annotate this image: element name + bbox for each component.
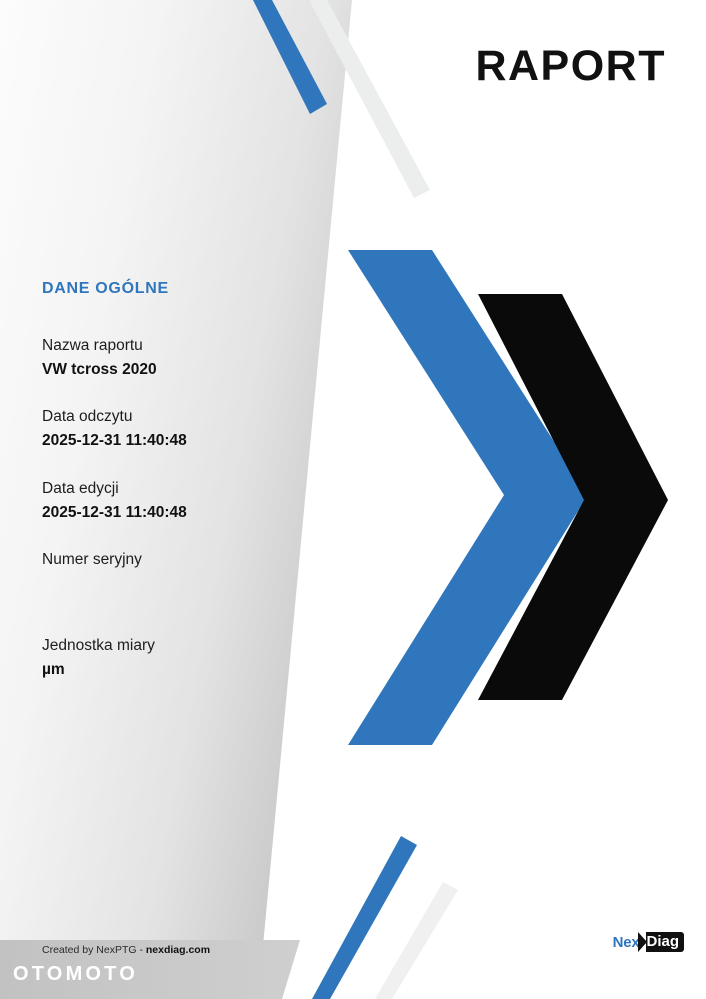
footer-credit-link[interactable]: nexdiag.com — [146, 944, 210, 956]
bottom-gray-stripe — [375, 882, 458, 999]
field-edit-date: Data edycji 2025-12-31 11:40:48 — [42, 479, 322, 524]
field-value: µm — [42, 659, 322, 681]
field-value: 2025-12-31 11:40:48 — [42, 430, 322, 452]
footer-credit-prefix: Created by NexPTG - — [42, 944, 146, 956]
field-value: VW tcross 2020 — [42, 359, 322, 381]
report-page: RAPORT DANE OGÓLNE Nazwa raportu VW tcro… — [0, 0, 706, 999]
blue-chevron — [348, 250, 588, 745]
top-blue-stripe — [253, 0, 327, 114]
otomoto-watermark: OTOMOTO — [13, 963, 138, 986]
field-label: Numer seryjny — [42, 550, 322, 571]
black-chevron — [478, 294, 668, 700]
section-heading-general: DANE OGÓLNE — [42, 280, 322, 298]
page-title: RAPORT — [475, 45, 666, 88]
field-measurement-unit: Jednostka miary µm — [42, 636, 322, 681]
field-label: Nazwa raportu — [42, 336, 322, 357]
field-label: Data edycji — [42, 479, 322, 500]
field-report-name: Nazwa raportu VW tcross 2020 — [42, 336, 322, 381]
field-label: Data odczytu — [42, 407, 322, 428]
field-read-date: Data odczytu 2025-12-31 11:40:48 — [42, 407, 322, 452]
nexdiag-logo-diag: Diag — [646, 932, 684, 952]
field-label: Jednostka miary — [42, 636, 322, 657]
field-value — [42, 573, 322, 592]
field-value: 2025-12-31 11:40:48 — [42, 502, 322, 524]
nexdiag-logo: Nex Diag — [613, 932, 684, 952]
top-gray-stripe — [309, 0, 430, 198]
general-data-section: DANE OGÓLNE Nazwa raportu VW tcross 2020… — [42, 280, 322, 707]
footer-credit: Created by NexPTG - nexdiag.com — [42, 944, 210, 956]
bottom-blue-stripe — [312, 836, 417, 999]
nexdiag-logo-nex: Nex — [613, 935, 640, 950]
field-serial-number: Numer seryjny — [42, 550, 322, 592]
